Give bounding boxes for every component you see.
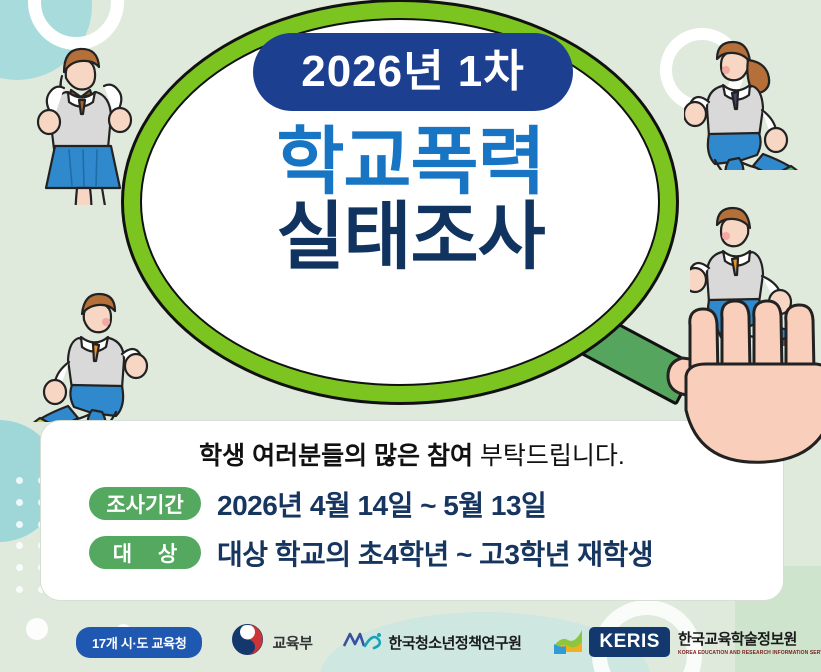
info-row-period: 조사기간 2026년 4월 14일 ~ 5월 13일 (41, 484, 783, 524)
label-ministry-of-education: 교육부 (272, 632, 312, 653)
info-lead-normal: 부탁드립니다. (473, 442, 625, 470)
keris-mark-icon (553, 626, 583, 659)
year-badge-label: 2026년 1차 (301, 50, 525, 94)
footer-logos: 17개 시·도 교육청 교육부 한국청소년정책연구원 (0, 612, 821, 672)
year-badge: 2026년 1차 (253, 33, 573, 111)
keris-wordmark-text: KERIS (599, 631, 660, 652)
title-line-1: 학교폭력 (0, 125, 821, 198)
logo-nypi: 한국청소년정책연구원 (342, 630, 521, 655)
value-survey-period: 2026년 4월 14일 ~ 5월 13일 (217, 484, 546, 524)
keris-wordmark: KERIS (589, 627, 670, 657)
keris-labels: 한국교육학술정보원 KOREA EDUCATION AND RESEARCH I… (678, 628, 821, 656)
label-keris-english: KOREA EDUCATION AND RESEARCH INFORMATION… (678, 650, 821, 656)
badge-education-offices: 17개 시·도 교육청 (76, 627, 202, 658)
info-lead-bold: 학생 여러분들의 많은 참여 (199, 442, 473, 470)
nypi-mark-icon (342, 630, 382, 655)
label-nypi: 한국청소년정책연구원 (388, 632, 521, 653)
title-line-2: 실태조사 (0, 198, 821, 276)
value-survey-target: 대상 학교의 초4학년 ~ 고3학년 재학생 (217, 533, 653, 573)
logo-keris: KERIS 한국교육학술정보원 KOREA EDUCATION AND RESE… (553, 626, 821, 659)
hand-illustration (660, 292, 821, 472)
taegeuk-icon (232, 624, 263, 660)
page-title: 학교폭력 실태조사 (0, 125, 821, 276)
label-survey-period: 조사기간 (89, 487, 201, 520)
label-keris-korean: 한국교육학술정보원 (678, 628, 821, 649)
poster-root: 2026년 1차 학교폭력 실태조사 학생 여러분들의 많은 참여 부탁드립니다… (0, 0, 821, 672)
info-row-target: 대 상 대상 학교의 초4학년 ~ 고3학년 재학생 (41, 533, 783, 573)
illustration-student-male-running-left (22, 282, 157, 427)
label-survey-target: 대 상 (89, 536, 201, 569)
logo-ministry-of-education: 교육부 (232, 624, 312, 660)
